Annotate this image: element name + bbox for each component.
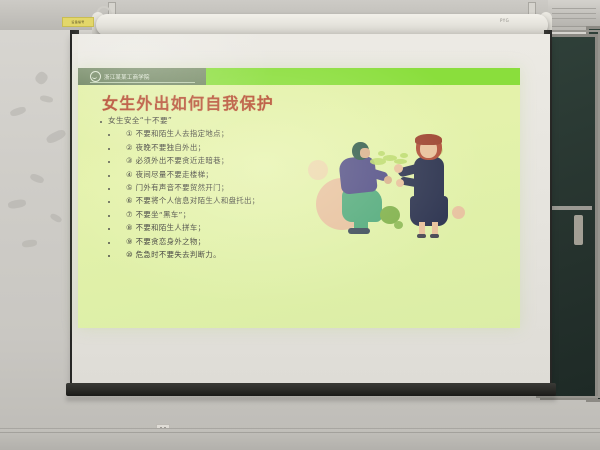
floor-line bbox=[0, 432, 600, 433]
list-item-text: ⑥ 不要将个人信息对陌生人和盘托出； bbox=[116, 196, 260, 206]
vent-slat bbox=[552, 13, 596, 14]
list-item-text: ④ 夜间尽量不要走楼梯； bbox=[116, 170, 213, 180]
attacker-face bbox=[360, 148, 370, 158]
screen-roller-housing[interactable] bbox=[96, 14, 548, 36]
list-item-text: ② 夜晚不要独自外出； bbox=[116, 143, 205, 153]
bullet-dot-icon bbox=[108, 161, 110, 163]
list-item-text: ⑨ 不要贪恋身外之物； bbox=[116, 237, 205, 247]
equipment-label-text: 设备编号 bbox=[63, 18, 93, 26]
bullet-lead: 女生安全“十不要” bbox=[100, 116, 350, 126]
woman-hand bbox=[396, 179, 404, 187]
bullet-dot-icon bbox=[108, 148, 110, 150]
bullet-dot-icon bbox=[108, 175, 110, 177]
bullet-dot-icon bbox=[108, 134, 110, 136]
list-item-text: ⑩ 危急时不要失去判断力。 bbox=[116, 250, 221, 260]
housing-brand-text: PYG bbox=[500, 18, 509, 23]
chalkboard-handle[interactable] bbox=[574, 215, 583, 245]
bullet-lead-text: 女生安全“十不要” bbox=[108, 116, 172, 126]
woman-hand bbox=[394, 164, 403, 173]
slide-title: 女生外出如何自我保护 bbox=[102, 90, 274, 114]
institution-seal-icon bbox=[90, 71, 101, 82]
list-item-text: ⑦ 不要坐“黑车”； bbox=[116, 210, 190, 220]
bullet-dot-icon bbox=[108, 255, 110, 257]
list-item: ⑩ 危急时不要失去判断力。 bbox=[108, 250, 350, 260]
institution-logo-block: 浙江某某工商学院 bbox=[78, 68, 206, 85]
woman-shoe bbox=[417, 234, 426, 238]
classroom-scene: 设备编号 PYG 浙江某某工商学院 女生外出如何自我保护 女生安全“十不要” ①… bbox=[0, 0, 600, 450]
self-defense-illustration bbox=[306, 126, 482, 251]
list-item-text: ③ 必须外出不要贪近走暗巷； bbox=[116, 156, 229, 166]
screen-bottom-bar[interactable] bbox=[66, 383, 556, 396]
institution-name: 浙江某某工商学院 bbox=[104, 73, 150, 81]
woman-shoe bbox=[430, 234, 439, 238]
bullet-dot-icon bbox=[108, 228, 110, 230]
attacker-hand bbox=[384, 176, 392, 184]
decor-circle bbox=[452, 206, 465, 219]
bullet-dot-icon bbox=[108, 188, 110, 190]
vent-slat bbox=[552, 8, 596, 9]
bullet-dot-icon bbox=[108, 201, 110, 203]
bullet-dot-icon bbox=[108, 242, 110, 244]
list-item-text: ⑤ 门外有声音不要贸然开门； bbox=[116, 183, 229, 193]
equipment-label: 设备编号 bbox=[62, 17, 94, 27]
logo-underline bbox=[90, 82, 195, 83]
bullet-dot-icon bbox=[100, 121, 102, 123]
list-item-text: ⑧ 不要和陌生人拼车； bbox=[116, 223, 205, 233]
projected-slide: 浙江某某工商学院 女生外出如何自我保护 女生安全“十不要” ① 不要和陌生人去指… bbox=[78, 68, 520, 328]
screen-shadow bbox=[66, 396, 556, 401]
list-item-text: ① 不要和陌生人去指定地点； bbox=[116, 129, 229, 139]
attacker-foot bbox=[348, 228, 370, 234]
woman-hair-front bbox=[415, 134, 442, 145]
decor-circle bbox=[394, 221, 403, 229]
bullet-dot-icon bbox=[108, 215, 110, 217]
vent-slat bbox=[552, 18, 596, 19]
decor-circle bbox=[308, 160, 328, 180]
